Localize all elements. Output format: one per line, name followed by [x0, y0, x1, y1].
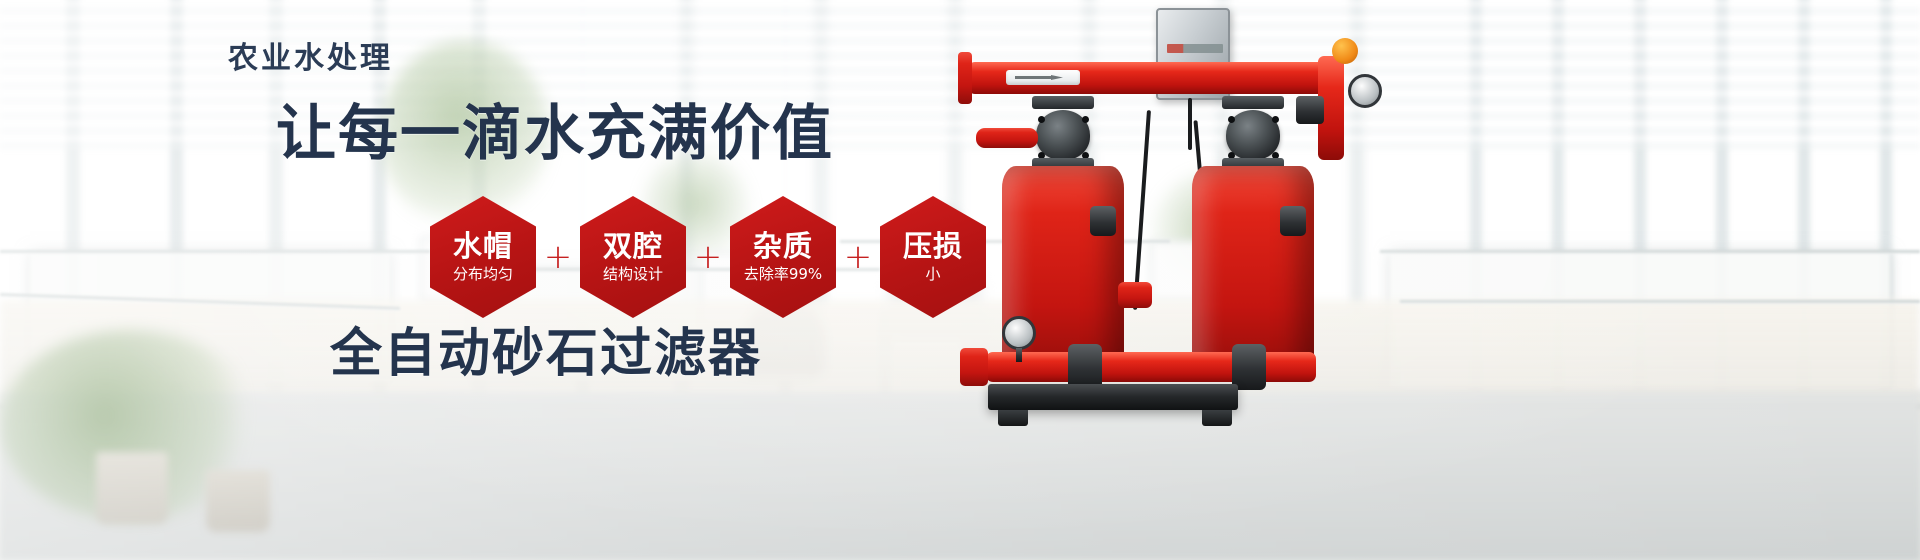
bottom-valve	[1232, 344, 1266, 390]
feature-badge-3[interactable]: 杂质 去除率99%	[730, 196, 836, 318]
feature-subtitle: 分布均匀	[453, 266, 513, 283]
feature-badge-row: 水帽 分布均匀 + 双腔 结构设计 + 杂质 去除率99% + 压损 小	[430, 196, 986, 318]
hexagon-shape: 杂质 去除率99%	[730, 196, 836, 318]
feature-subtitle: 小	[925, 266, 940, 283]
plus-separator-icon: +	[536, 240, 580, 274]
gauge-stem	[1016, 348, 1022, 362]
feature-title: 压损	[903, 231, 963, 261]
feature-subtitle: 结构设计	[603, 266, 663, 283]
feature-title: 水帽	[453, 231, 513, 261]
page-title: 让每一滴水充满价值	[276, 104, 834, 164]
control-wire	[1133, 110, 1151, 310]
bottom-collector-pipe	[986, 352, 1316, 382]
tank-drain-port	[1118, 282, 1152, 308]
valve-flange	[1032, 96, 1094, 109]
plus-separator-icon: +	[686, 240, 730, 274]
glass-rail	[1400, 300, 1920, 304]
hexagon-shape: 压损 小	[880, 196, 986, 318]
plus-separator-icon: +	[836, 240, 880, 274]
control-box-label	[1167, 44, 1223, 53]
feature-badge-4[interactable]: 压损 小	[880, 196, 986, 318]
filter-machine-image	[940, 0, 1460, 560]
hero-banner: 农业水处理 让每一滴水充满价值 全自动砂石过滤器 水帽 分布均匀 + 双腔 结构…	[0, 0, 1920, 560]
control-wire	[1188, 98, 1192, 150]
pressure-gauge	[1348, 74, 1382, 108]
feature-subtitle: 去除率99%	[744, 266, 822, 283]
hexagon-shape: 双腔 结构设计	[580, 196, 686, 318]
tank-access-clamp	[1280, 206, 1306, 236]
product-title: 全自动砂石过滤器	[330, 328, 762, 380]
valve-flange	[1222, 96, 1284, 109]
pipe-clamp	[1296, 96, 1324, 124]
feature-badge-2[interactable]: 双腔 结构设计	[580, 196, 686, 318]
base-foot	[998, 410, 1028, 426]
tank-access-clamp	[1090, 206, 1116, 236]
feature-badge-1[interactable]: 水帽 分布均匀	[430, 196, 536, 318]
hexagon-shape: 水帽 分布均匀	[430, 196, 536, 318]
feature-title: 双腔	[603, 231, 663, 261]
pressure-gauge	[1002, 316, 1036, 350]
base-foot	[1202, 410, 1232, 426]
feature-title: 杂质	[753, 231, 813, 261]
relief-valve-icon	[1332, 38, 1358, 64]
eyebrow-text: 农业水处理	[228, 44, 393, 74]
flow-direction-label	[1006, 70, 1080, 85]
machine-base-frame	[988, 384, 1238, 410]
glass-rail	[1380, 250, 1920, 254]
